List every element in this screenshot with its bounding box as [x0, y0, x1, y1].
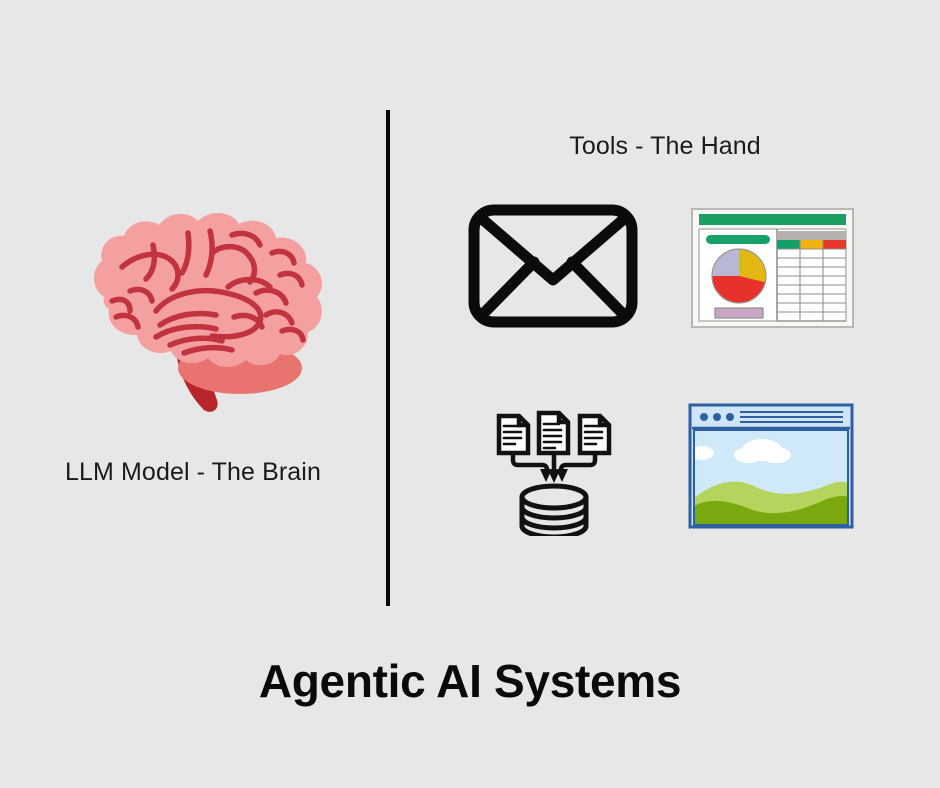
vertical-divider: [386, 110, 390, 606]
brain-illustration: [60, 205, 360, 420]
documents-to-database-icon[interactable]: [489, 404, 619, 536]
spreadsheet-icon[interactable]: [691, 208, 854, 328]
page-title: Agentic AI Systems: [0, 654, 940, 708]
envelope-icon[interactable]: [468, 204, 638, 328]
tools-label: Tools - The Hand: [390, 132, 940, 161]
browser-window-icon[interactable]: [688, 403, 854, 529]
brain-label: LLM Model - The Brain: [0, 458, 386, 487]
diagram-canvas: LLM Model - The Brain Tools - The Hand: [0, 0, 940, 788]
